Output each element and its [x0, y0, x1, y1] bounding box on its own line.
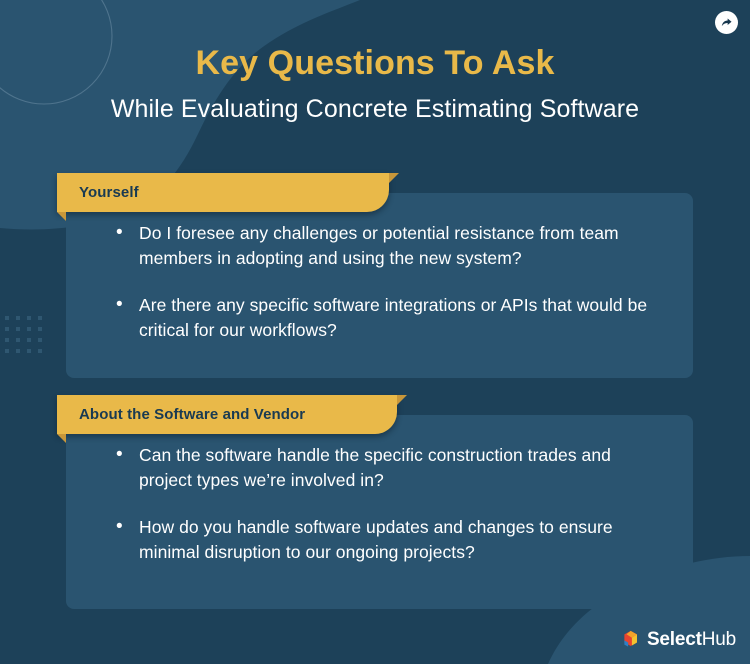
page-subtitle: While Evaluating Concrete Estimating Sof… — [0, 85, 750, 125]
section-about-software-and-vendor: About the Software and Vendor Can the so… — [57, 395, 693, 434]
selecthub-logo[interactable]: SelectHub — [620, 629, 736, 650]
page-title: Key Questions To Ask — [0, 0, 750, 85]
banner-fold-bottom-left-icon — [57, 434, 66, 443]
share-button[interactable] — [715, 11, 738, 34]
share-arrow-icon — [720, 16, 733, 29]
logo-text-light: Hub — [702, 629, 736, 650]
list-item: How do you handle software updates and c… — [114, 515, 663, 565]
logo-text-bold: Select — [647, 629, 702, 650]
list-item: Are there any specific software integrat… — [114, 293, 663, 343]
list-item: Can the software handle the specific con… — [114, 443, 663, 493]
section-bullet-list: Do I foresee any challenges or potential… — [66, 193, 693, 343]
selecthub-logo-text: SelectHub — [647, 630, 736, 649]
dot-grid-decoration — [5, 316, 42, 353]
selecthub-cube-icon — [620, 629, 641, 650]
banner-fold-top-right-icon — [389, 173, 399, 183]
infographic-canvas: Key Questions To Ask While Evaluating Co… — [0, 0, 750, 664]
section-yourself: Yourself Do I foresee any challenges or … — [57, 173, 693, 212]
page-header: Key Questions To Ask While Evaluating Co… — [0, 0, 750, 125]
list-item: Do I foresee any challenges or potential… — [114, 221, 663, 271]
banner-fold-top-right-icon — [397, 395, 407, 405]
banner-fold-bottom-left-icon — [57, 212, 66, 221]
section-bullet-list: Can the software handle the specific con… — [66, 415, 693, 565]
